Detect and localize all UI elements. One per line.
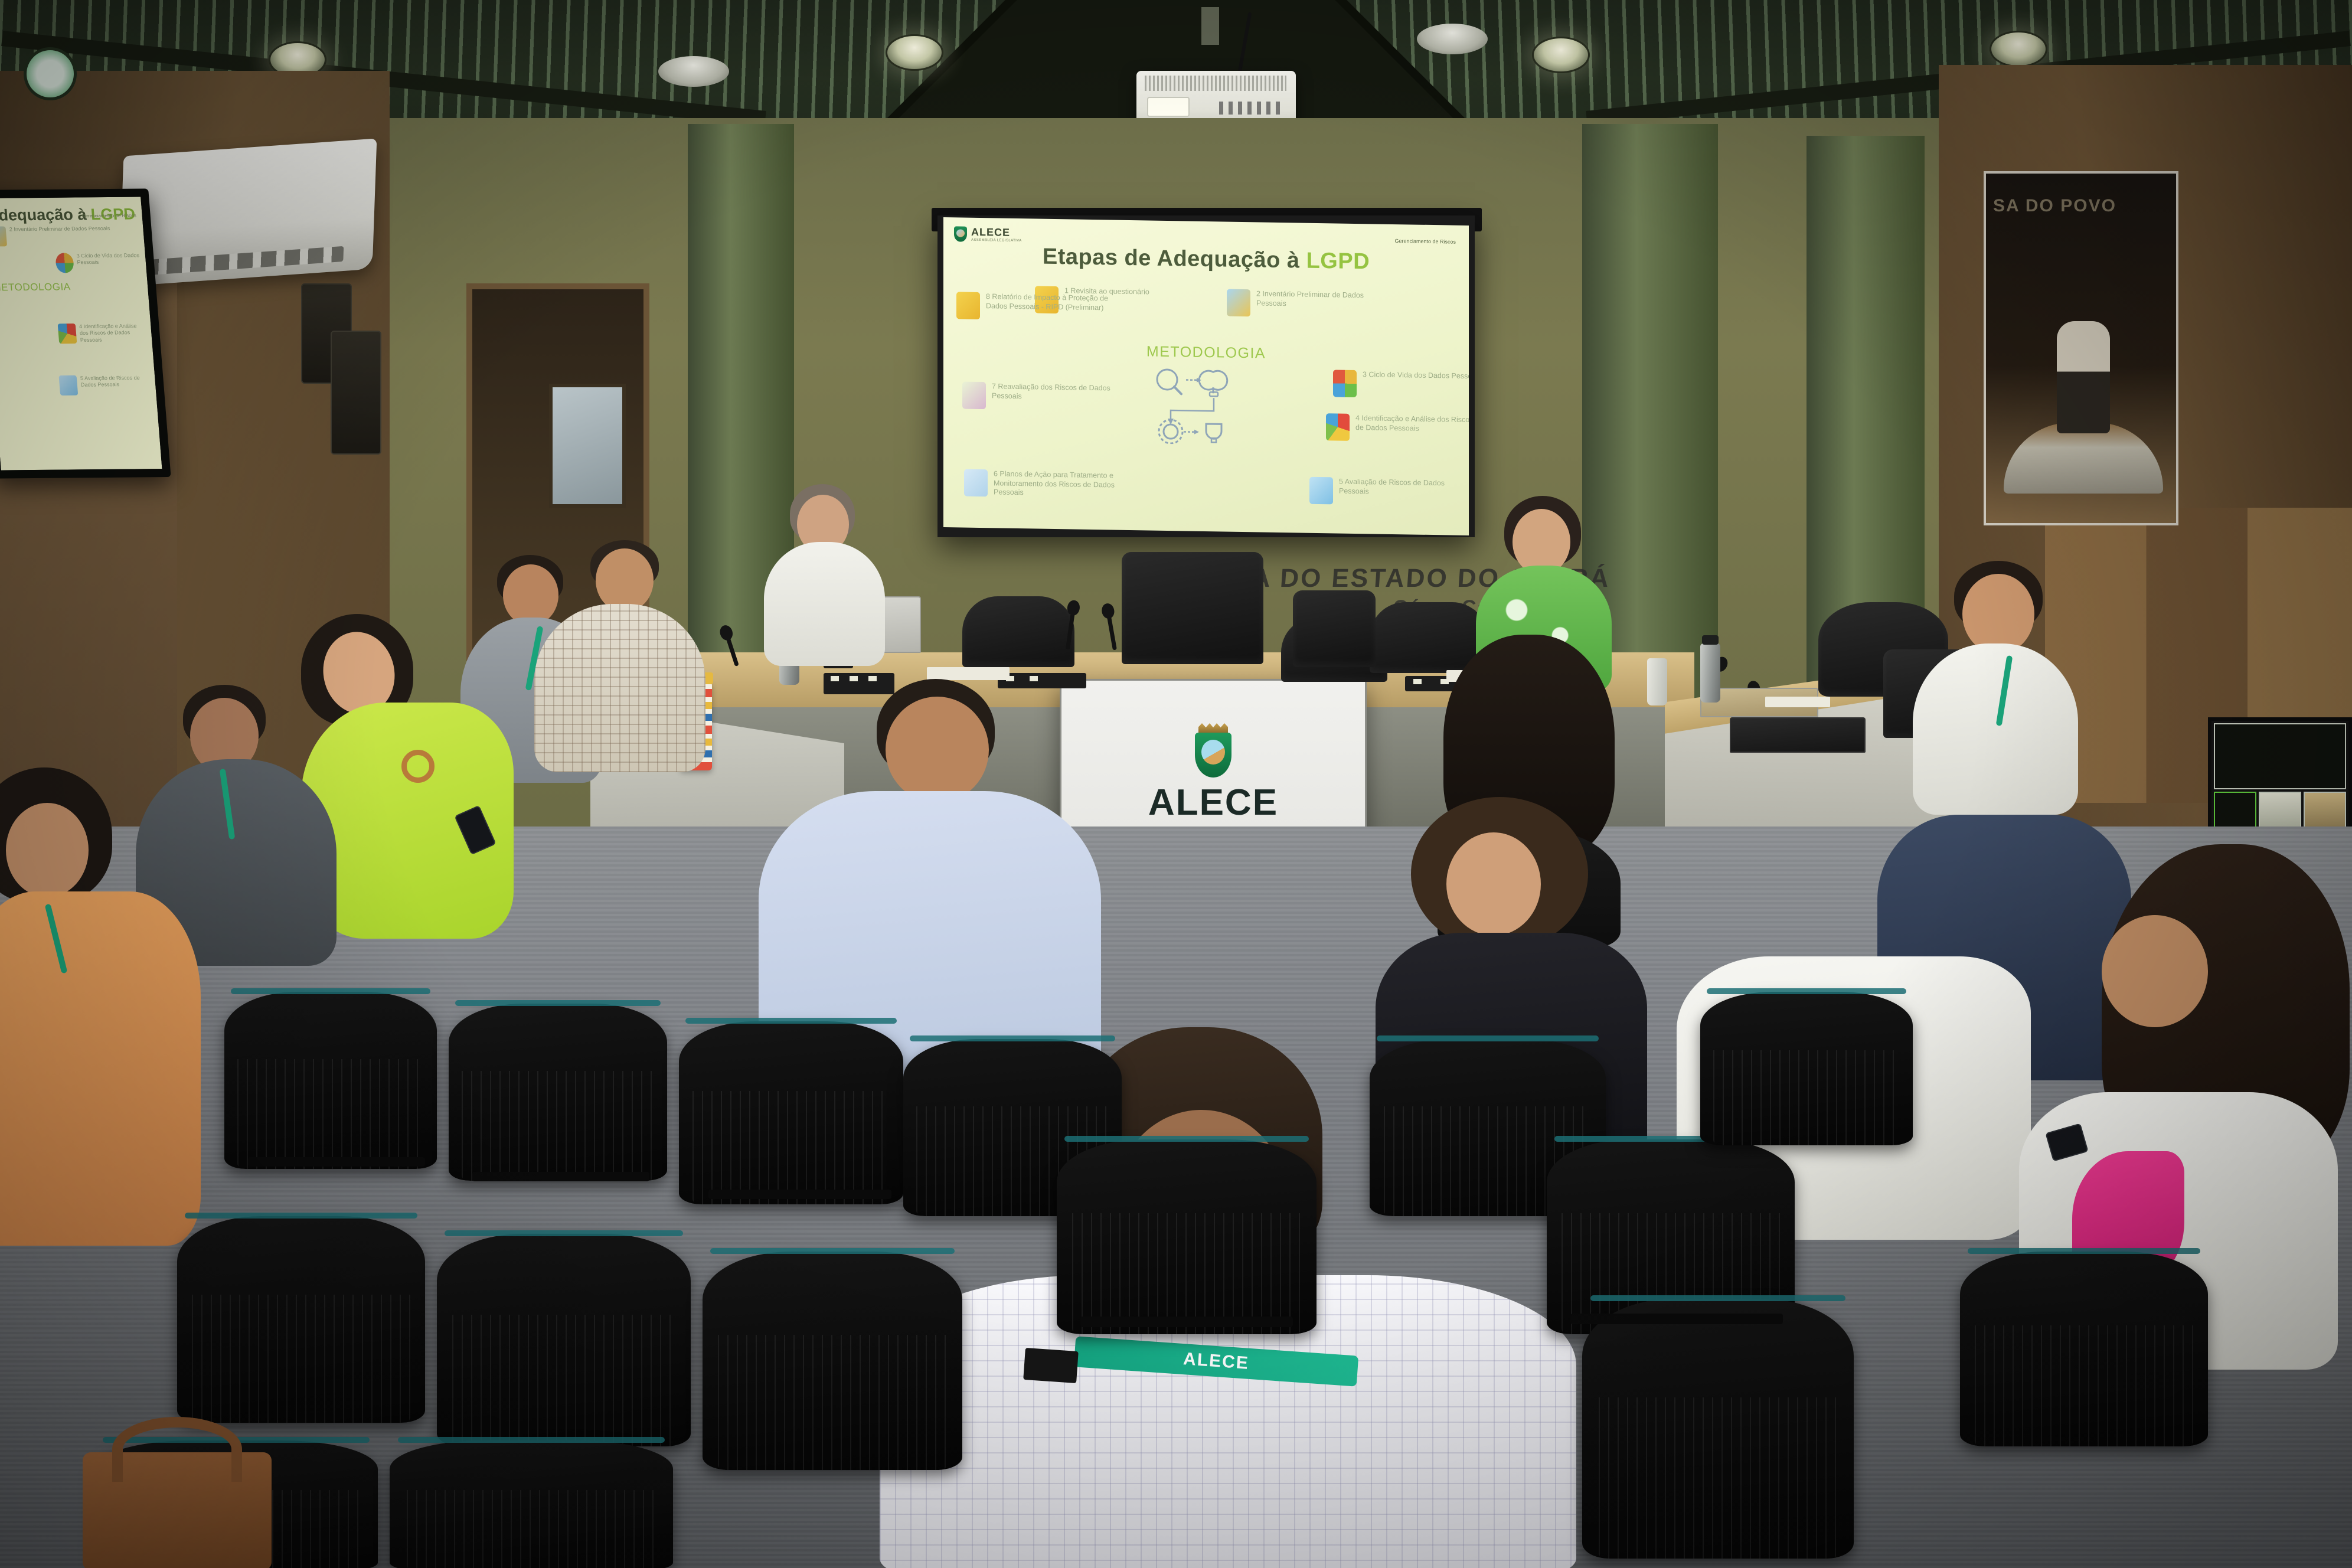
chair-trim [1707,988,1906,994]
document-lock-icon [59,375,79,396]
projector-lens-icon [1147,97,1190,117]
slide-logo-subtitle: ASSEMBLEIA LEGISLATIVA [971,239,1022,243]
chair-trim [1590,1295,1845,1301]
head [6,803,89,897]
ceiling-downlight [1990,31,2047,67]
left-monitor-step: 5 Avaliação de Riscos de Dados Pessoais [59,375,151,396]
risk-pie-icon [1326,413,1350,441]
methodology-diagram-icon [1147,364,1265,445]
air-conditioner [119,138,377,286]
chair-trim [910,1035,1115,1041]
ceara-shield-icon [954,226,967,241]
audience-chair[interactable] [1960,1252,2208,1446]
lanyard-text: ALECE [1182,1349,1250,1374]
audience-chair[interactable] [679,1021,903,1204]
handbag-strap [112,1417,242,1482]
audience-chair[interactable] [449,1004,667,1181]
slide-step-4: 4 Identificação e Análise dos Riscos de … [1326,413,1469,443]
wall-mural-photo: SA DO POVO [1984,171,2178,525]
projector-mount [1201,7,1219,45]
chair-legs [1080,1317,1293,1327]
meeting-room-photo: A DO ESTADO DO CEARÁ César Cals SA DO PO… [0,0,2352,1568]
ac-louver [143,246,344,276]
head [1446,832,1541,936]
slide-step-3: 3 Ciclo de Vida dos Dados Pessoais [1333,370,1469,399]
ceara-shield-icon [1191,724,1235,779]
audience-chair[interactable] [703,1252,962,1470]
torso [1913,643,2078,815]
mural-counter [2004,423,2163,494]
head [886,697,989,803]
chair-trim [685,1018,896,1024]
water-bottle [1700,643,1720,703]
smoke-detector-icon [658,56,729,87]
left-monitor-methodology-label: METODOLOGIA [0,280,142,293]
audience-chair[interactable] [1057,1139,1317,1334]
head [2102,915,2208,1027]
slide-methodology-block: METODOLOGIA [1118,343,1295,449]
chair-trim [1377,1035,1599,1041]
laptop-right[interactable] [1730,717,1866,753]
smoke-detector-icon [1417,24,1488,54]
ceiling-downlight [1532,37,1590,73]
mural-text: SA DO POVO [1993,196,2170,216]
control-led [1413,679,1422,684]
head [1962,574,2034,654]
clipboard-icon [0,226,7,246]
necklace-pendant [401,750,435,783]
lifecycle-wheel-icon [55,253,74,273]
person-check-shirt [534,540,705,770]
slide-surface: ALECE ASSEMBLEIA LEGISLATIVA Gerenciamen… [943,217,1469,535]
chair-trim [1064,1136,1309,1142]
audience-chair[interactable] [390,1440,673,1568]
bottle-cap [1702,635,1719,645]
cup [1647,658,1667,705]
audience-chair[interactable] [437,1234,691,1446]
audience-chair[interactable] [1700,992,1913,1145]
chair-trim [1968,1248,2201,1254]
slide-step-5: 5 Avaliação de Riscos de Dados Pessoais [1309,477,1463,507]
chair-trim [185,1213,418,1219]
chair-trim [231,988,430,994]
audience-chair[interactable] [224,992,437,1169]
panel-cell [2214,723,2346,789]
slide-step-2: 2 Inventário Preliminar de Dados Pessoai… [1227,289,1380,319]
slide-logo-name: ALECE [971,226,1010,239]
chair-legs [472,1172,649,1181]
projector-vent [1145,76,1286,91]
chair-trim [398,1437,664,1443]
left-monitor-screen: Adequação à LGPD Gerenciamento de Riscos… [0,197,162,471]
slide-corner-note: Gerenciamento de Riscos [1394,238,1456,245]
podium-name: ALECE [1148,785,1278,821]
wall-clock-icon [24,47,77,100]
chair-legs [1570,1314,1783,1324]
torso [764,542,885,666]
executive-chair[interactable] [962,596,1074,667]
chair-trim [445,1230,683,1236]
lanyard-clip [1023,1348,1079,1383]
paper-document [1765,697,1830,707]
clipboard-icon [1227,289,1250,317]
left-monitor-step: 3 Ciclo de Vida dos Dados Pessoais [55,252,141,273]
person-presenter-seated [762,484,886,661]
lifecycle-wheel-icon [1333,370,1357,397]
person-white-shirt-right [1913,561,2078,809]
door-window [549,384,626,508]
wall-speaker [331,331,381,455]
executive-chair[interactable] [1122,552,1263,664]
head [596,548,654,612]
mural-figure [2057,321,2110,433]
slide-body: 1 Revisita ao questionário 2 Inventário … [943,270,1469,503]
projection-screen: ALECE ASSEMBLEIA LEGISLATIVA Gerenciamen… [937,215,1475,537]
executive-console [1293,590,1376,667]
chair-legs [248,1157,425,1167]
document-lock-icon [1309,477,1333,505]
chair-trim [710,1248,955,1254]
left-monitor-step: 2 Inventário Preliminar de Dados Pessoai… [0,225,139,246]
left-wall-monitor: Adequação à LGPD Gerenciamento de Riscos… [0,188,171,478]
reassess-icon [962,382,986,410]
person-orange-top [0,767,224,1252]
slide-alece-logo: ALECE ASSEMBLEIA LEGISLATIVA [954,226,1022,243]
paper-document [927,667,1010,680]
methodology-label: METODOLOGIA [1118,343,1295,363]
audience-chair[interactable] [1582,1299,1854,1559]
chair-legs [708,1190,891,1199]
shield-inner-emblem [1201,740,1225,765]
left-monitor-step: 4 Identificação e Análise dos Riscos de … [58,323,146,344]
slide-step-7: 7 Reavaliação dos Riscos de Dados Pessoa… [962,382,1116,411]
chair-trim [455,1000,661,1006]
risk-pie-icon [58,324,77,344]
torso [0,891,201,1246]
slide-step-6: 6 Planos de Ação para Tratamento e Monit… [964,469,1141,500]
ceiling-downlight [886,34,943,71]
action-plan-icon [964,469,988,497]
projector-ports [1219,102,1284,115]
slide-step-8: 8 Relatório de Impacto à Proteção de Dad… [956,292,1110,321]
audience-chair[interactable] [177,1216,425,1423]
shield-crown [1198,723,1228,733]
torso [534,604,705,772]
report-icon [956,292,980,319]
